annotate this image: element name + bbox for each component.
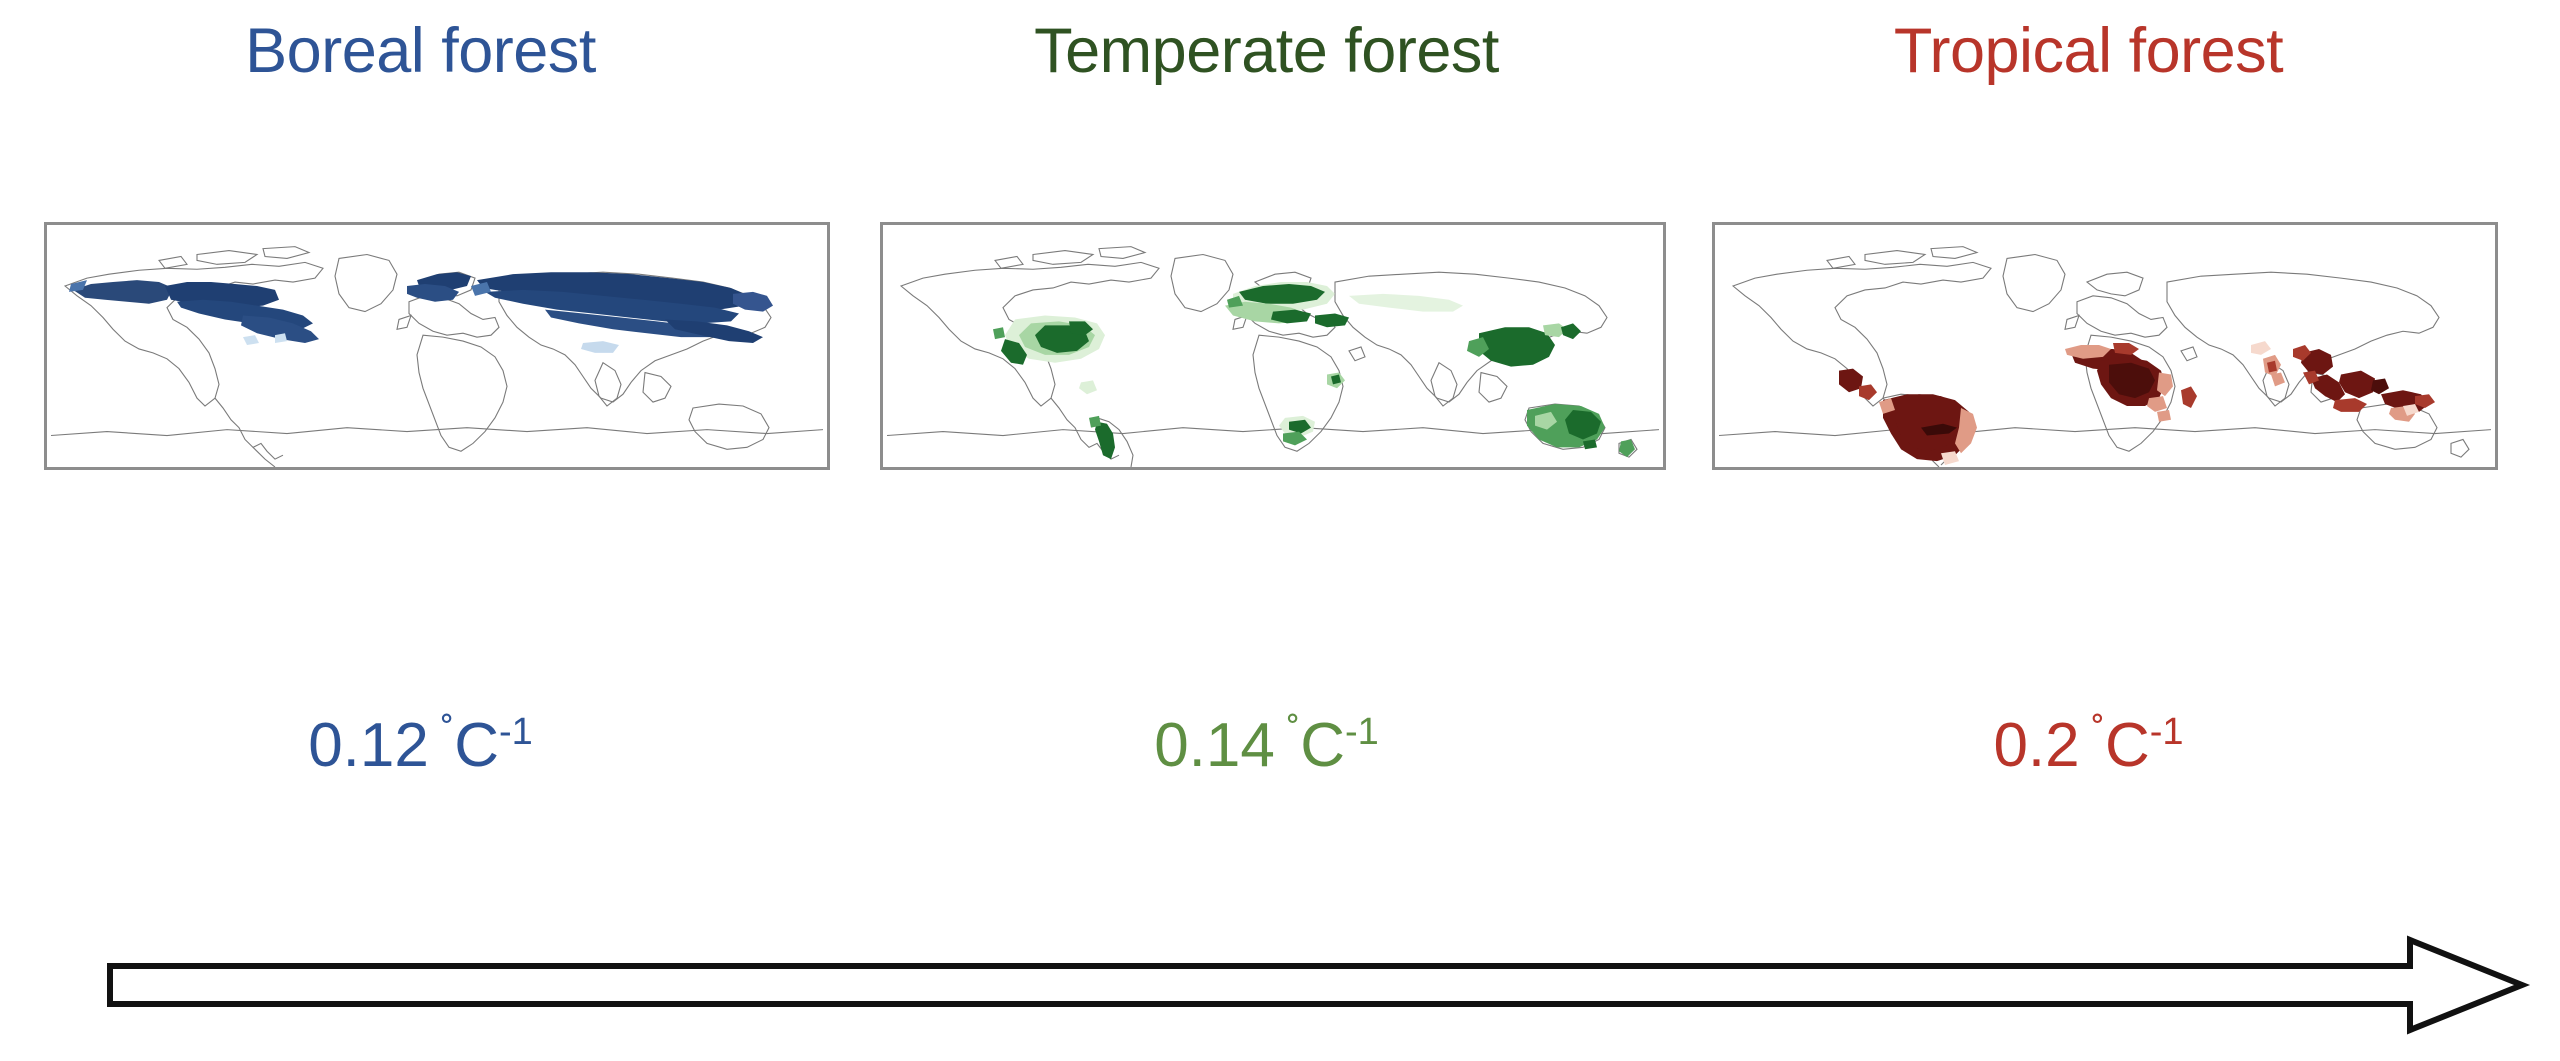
panel-value-boreal: 0.12˚C-1 xyxy=(4,712,837,778)
celsius-letter-temperate: C xyxy=(1300,711,1345,780)
map-temperate xyxy=(880,222,1666,470)
panel-boreal: Boreal forest xyxy=(4,0,837,900)
exponent-tropical: -1 xyxy=(2150,711,2184,753)
panel-title-tropical: Tropical forest xyxy=(1672,18,2505,84)
degree-symbol-boreal: ˚ xyxy=(441,711,454,755)
temperate-forest-data xyxy=(993,282,1635,459)
boreal-map-svg xyxy=(47,225,827,467)
panel-temperate: Temperate forest xyxy=(850,0,1683,900)
tropical-map-svg xyxy=(1715,225,2495,467)
panel-value-tropical: 0.2˚C-1 xyxy=(1672,712,2505,778)
value-number-boreal: 0.12 xyxy=(308,711,429,780)
forest-sensitivity-figure: Boreal forest xyxy=(0,0,2560,1061)
value-number-temperate: 0.14 xyxy=(1154,711,1275,780)
exponent-boreal: -1 xyxy=(499,711,533,753)
value-unit-temperate: ˚C-1 xyxy=(1287,711,1379,780)
value-number-tropical: 0.2 xyxy=(1993,711,2079,780)
gradient-arrow-layer xyxy=(0,930,2560,1050)
celsius-letter-tropical: C xyxy=(2105,711,2150,780)
map-tropical xyxy=(1712,222,2498,470)
degree-symbol-tropical: ˚ xyxy=(2092,711,2105,755)
panel-value-temperate: 0.14˚C-1 xyxy=(850,712,1683,778)
panel-title-temperate: Temperate forest xyxy=(850,18,1683,84)
value-unit-boreal: ˚C-1 xyxy=(441,711,533,780)
panel-tropical: Tropical forest xyxy=(1672,0,2505,900)
panel-title-boreal: Boreal forest xyxy=(4,18,837,84)
map-boreal xyxy=(44,222,830,470)
value-unit-tropical: ˚C-1 xyxy=(2092,711,2184,780)
celsius-letter-boreal: C xyxy=(454,711,499,780)
arrow-shape xyxy=(110,940,2522,1030)
degree-symbol-temperate: ˚ xyxy=(1287,711,1300,755)
temperate-map-svg xyxy=(883,225,1663,467)
exponent-temperate: -1 xyxy=(1345,711,1379,753)
increasing-sensitivity-arrow-icon xyxy=(0,930,2560,1050)
